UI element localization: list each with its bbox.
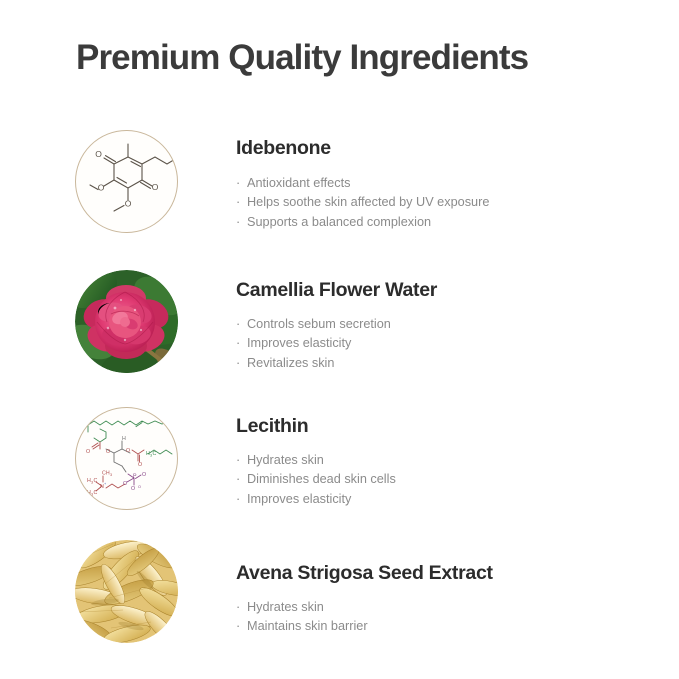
svg-text:C: C [89,419,93,425]
page-title: Premium Quality Ingredients [76,38,528,78]
svg-text:O: O [95,149,102,159]
benefit-text: Improves elasticity [247,492,351,506]
idebenone-molecular-structure-icon: O O O O [75,130,178,233]
svg-text:O: O [106,449,110,455]
benefit-list: ·Controls sebum secretion ·Improves elas… [236,315,659,374]
svg-text:C: C [153,451,157,457]
benefit-text: Controls sebum secretion [247,317,391,331]
svg-text:O: O [98,183,105,193]
benefit-text: Helps soothe skin affected by UV exposur… [247,195,489,209]
ingredient-text-column: Camellia Flower Water ·Controls sebum se… [236,265,659,373]
benefit-item: ·Hydrates skin [236,598,659,618]
bullet-icon: · [236,451,247,471]
ingredient-text-column: Idebenone ·Antioxidant effects ·Helps so… [236,125,659,232]
benefit-item: ·Controls sebum secretion [236,315,659,335]
ingredient-name: Camellia Flower Water [236,281,659,301]
bullet-icon: · [236,354,247,374]
svg-text:O: O [125,199,132,209]
benefit-item: ·Diminishes dead skin cells [236,470,659,490]
svg-text:3: 3 [110,473,112,477]
ingredient-name: Avena Strigosa Seed Extract [236,564,659,584]
benefit-item: ·Hydrates skin [236,451,659,471]
camellia-flower-photo [75,270,178,373]
svg-text:O: O [142,472,146,478]
bullet-icon: · [236,470,247,490]
benefit-text: Supports a balanced complexion [247,215,431,229]
ingredient-name: Lecithin [236,417,659,437]
benefit-item: ·Improves elasticity [236,490,659,510]
benefit-text: Hydrates skin [247,453,324,467]
lecithin-molecular-structure-icon: H 3 C O O O O H H 3 C O P O O O CH [75,407,178,510]
svg-text:O: O [131,486,135,492]
svg-text:O: O [152,182,159,192]
benefit-text: Hydrates skin [247,600,324,614]
benefit-item: ·Improves elasticity [236,334,659,354]
svg-text:O: O [138,462,142,468]
svg-text:+: + [104,482,107,486]
svg-text:O: O [86,449,90,455]
benefit-item: ·Revitalizes skin [236,354,659,374]
bullet-icon: · [236,213,247,233]
svg-text:H: H [82,419,86,425]
svg-text:C: C [94,478,98,484]
svg-text:P: P [133,474,137,480]
svg-text:O: O [126,448,130,454]
ingredient-text-column: Lecithin ·Hydrates skin ·Diminishes dead… [236,402,659,509]
bullet-icon: · [236,315,247,335]
benefit-list: ·Antioxidant effects ·Helps soothe skin … [236,174,659,233]
benefit-list: ·Hydrates skin ·Diminishes dead skin cel… [236,451,659,510]
ingredient-row: Avena Strigosa Seed Extract ·Hydrates sk… [0,535,679,660]
bullet-icon: · [236,193,247,213]
benefit-item: ·Helps soothe skin affected by UV exposu… [236,193,659,213]
ingredients-infographic: Premium Quality Ingredients [0,0,679,679]
benefit-list: ·Hydrates skin ·Maintains skin barrier [236,598,659,637]
svg-text:CH: CH [102,471,110,477]
benefit-text: Antioxidant effects [247,176,350,190]
oat-seeds-photo [75,540,178,643]
ingredient-row: H 3 C O O O O H H 3 C O P O O O CH [0,402,679,527]
ingredient-row: Camellia Flower Water ·Controls sebum se… [0,265,679,390]
bullet-icon: · [236,490,247,510]
svg-text:H: H [122,436,126,442]
benefit-item: ·Maintains skin barrier [236,617,659,637]
ingredient-text-column: Avena Strigosa Seed Extract ·Hydrates sk… [236,535,659,637]
benefit-text: Revitalizes skin [247,356,334,370]
ingredient-name: Idebenone [236,139,659,159]
bullet-icon: · [236,334,247,354]
benefit-text: Improves elasticity [247,336,351,350]
benefit-item: ·Supports a balanced complexion [236,213,659,233]
benefit-text: Maintains skin barrier [247,619,368,633]
svg-text:C: C [94,490,98,496]
benefit-item: ·Antioxidant effects [236,174,659,194]
svg-text:O: O [123,481,127,487]
benefit-text: Diminishes dead skin cells [247,472,396,486]
bullet-icon: · [236,598,247,618]
bullet-icon: · [236,174,247,194]
svg-text:O: O [138,485,141,489]
bullet-icon: · [236,617,247,637]
ingredient-row: O O O O Idebenone ·Antioxidant effects ·… [0,125,679,250]
